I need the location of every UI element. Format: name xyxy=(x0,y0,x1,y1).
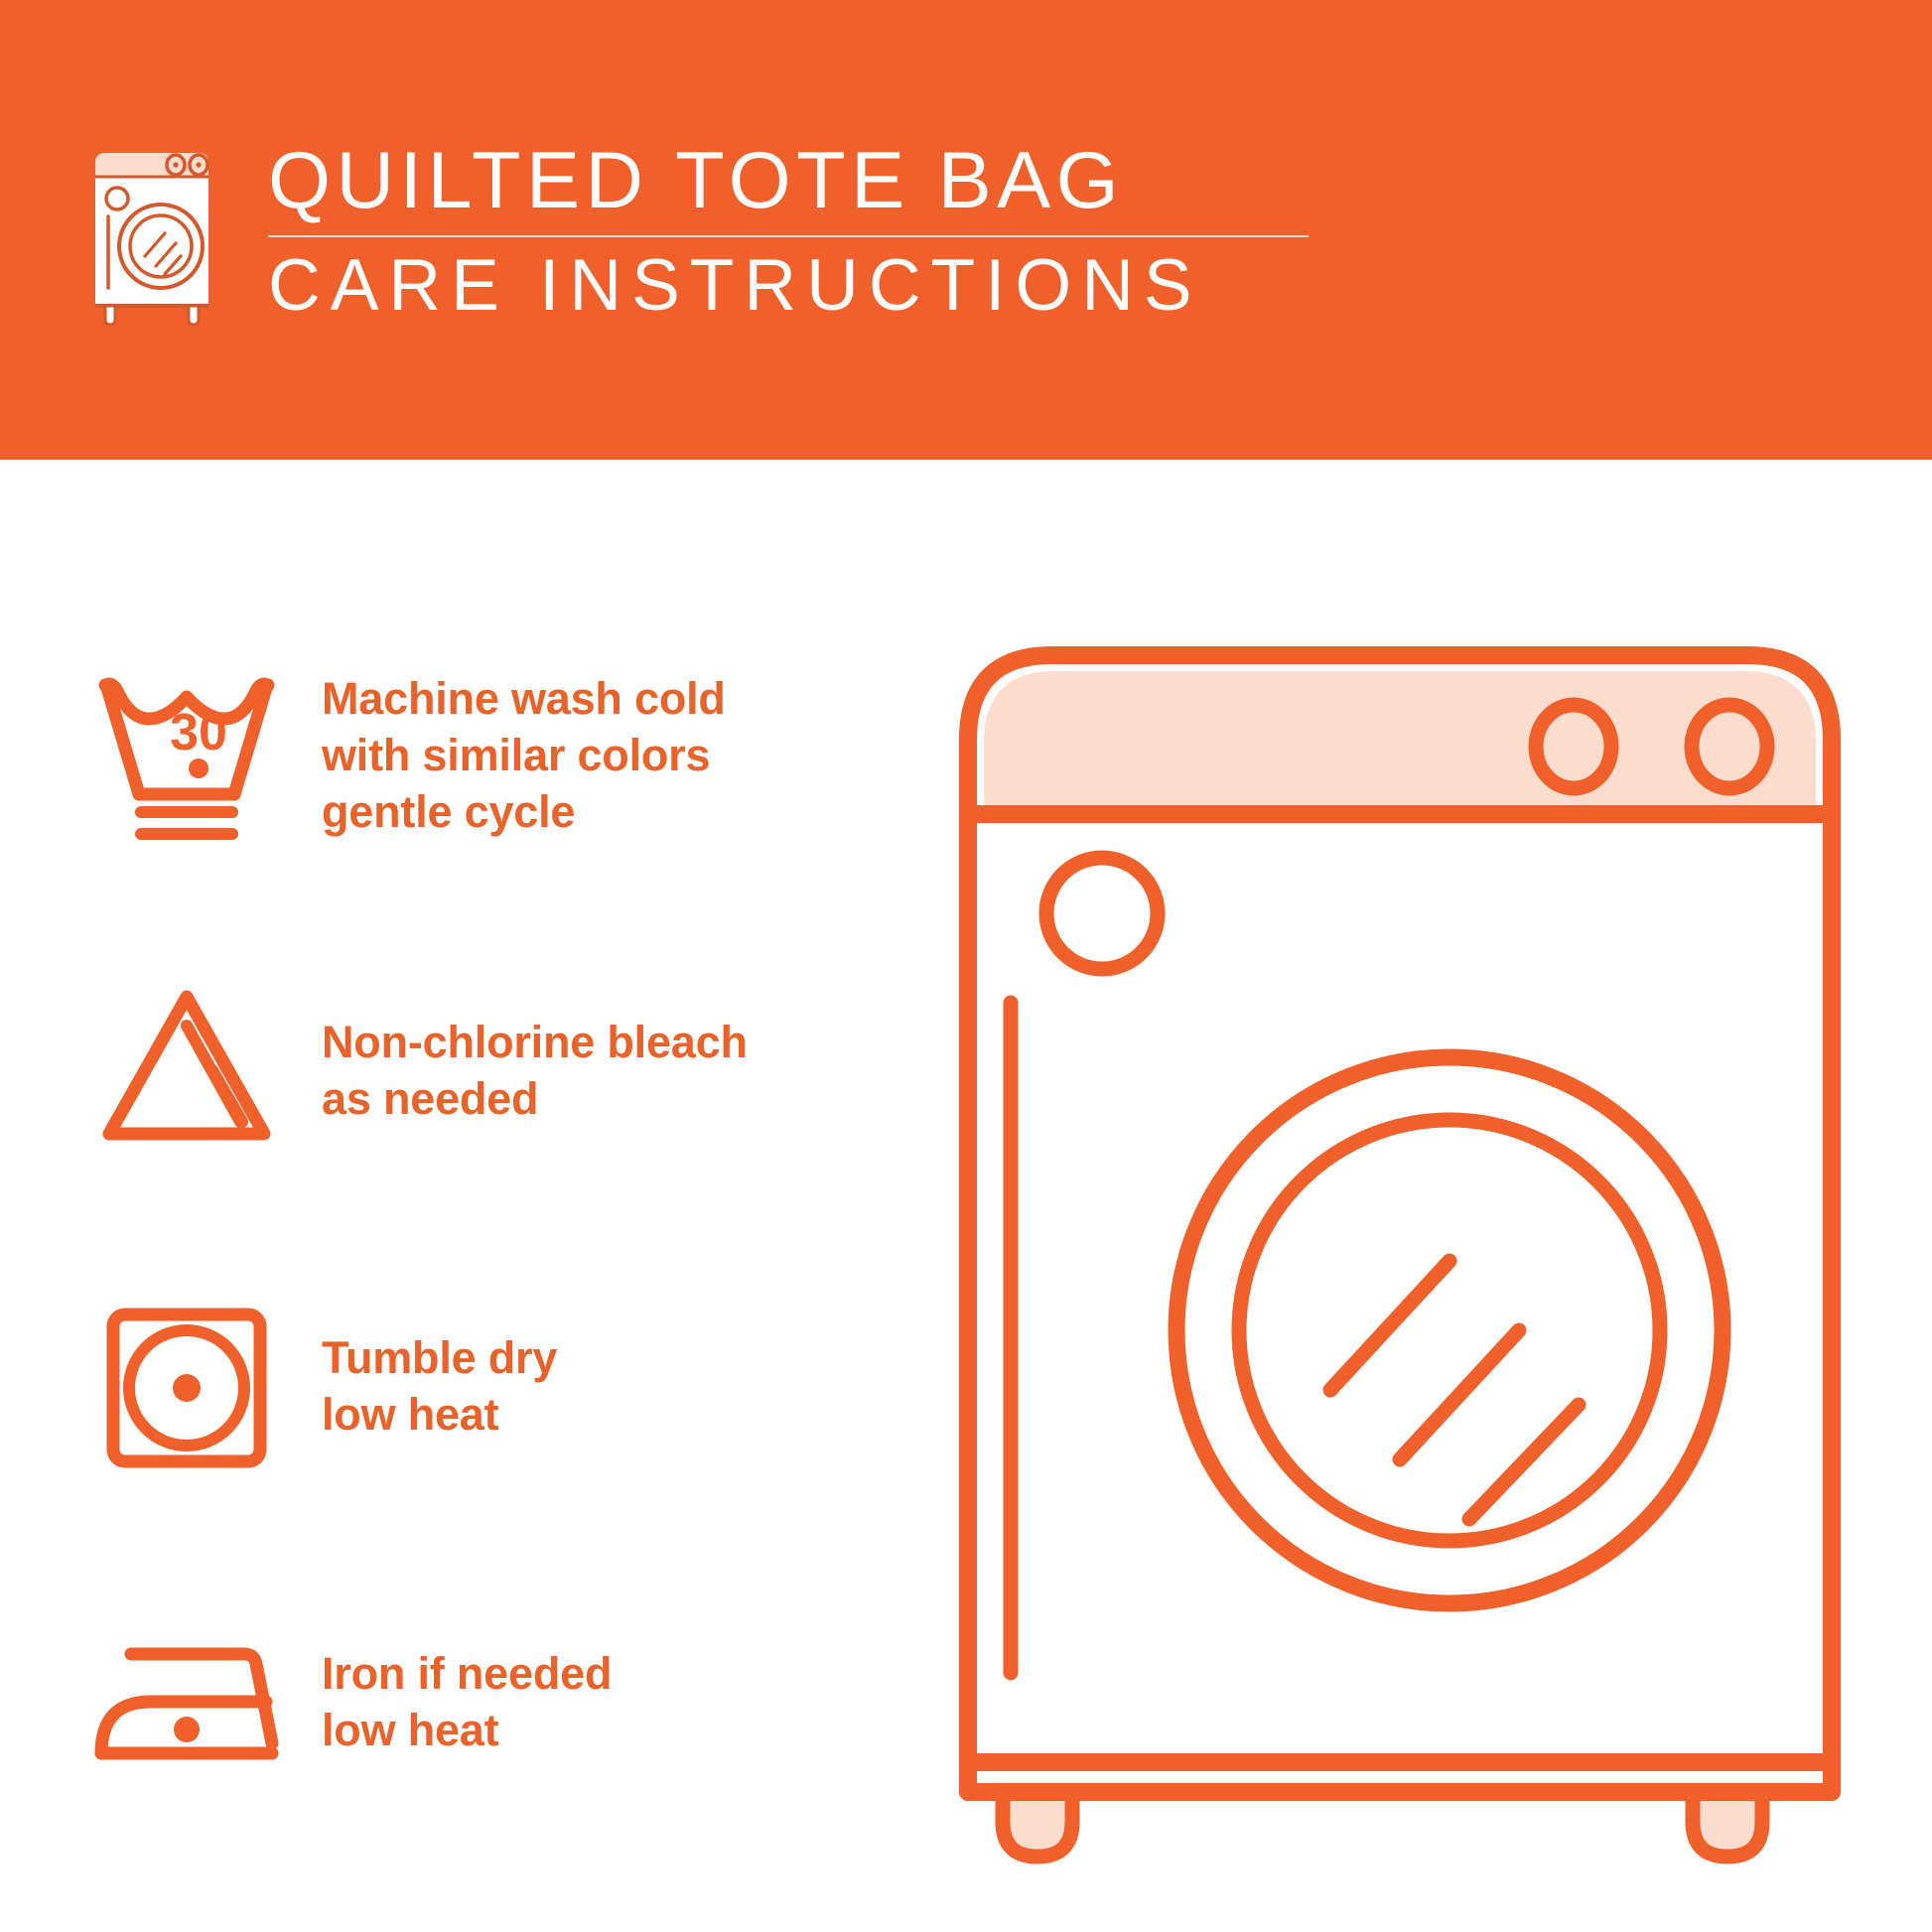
care-line: Machine wash cold xyxy=(322,670,921,727)
wash-temperature-label: 30 xyxy=(170,704,227,761)
care-text-tumble-dry: Tumble dry low heat xyxy=(286,1329,921,1443)
care-line: low heat xyxy=(322,1386,921,1443)
header-title-group: QUILTED TOTE BAG CARE INSTRUCTIONS xyxy=(264,137,1309,326)
care-text-machine-wash: Machine wash cold with similar colors ge… xyxy=(286,670,921,840)
header-content: QUILTED TOTE BAG CARE INSTRUCTIONS xyxy=(77,127,1309,336)
care-line: with similar colors xyxy=(322,727,921,783)
care-line: gentle cycle xyxy=(322,783,921,840)
care-line: Tumble dry xyxy=(322,1329,921,1386)
page-title: QUILTED TOTE BAG xyxy=(268,137,1309,224)
care-instruction-list: 30 Machine wash cold with similar colors… xyxy=(87,655,921,1801)
care-text-iron: Iron if needed low heat xyxy=(286,1645,921,1758)
page-subtitle: CARE INSTRUCTIONS xyxy=(268,246,1309,326)
washing-machine-illustration xyxy=(953,625,1847,1886)
title-divider xyxy=(268,235,1309,237)
care-row-tumble-dry: Tumble dry low heat xyxy=(87,1287,921,1485)
knob-right xyxy=(1692,705,1767,788)
care-line: Non-chlorine bleach xyxy=(322,1014,921,1070)
care-row-bleach: Non-chlorine bleach as needed xyxy=(87,971,921,1170)
care-row-iron: Iron if needed low heat xyxy=(87,1602,921,1801)
care-row-machine-wash: 30 Machine wash cold with similar colors… xyxy=(87,655,921,854)
knob-left xyxy=(1536,705,1611,788)
bleach-triangle-non-chlorine-icon xyxy=(87,971,286,1170)
tumble-dry-low-heat-icon xyxy=(87,1287,286,1485)
care-line: low heat xyxy=(322,1702,921,1758)
care-line: as needed xyxy=(322,1070,921,1127)
iron-low-heat-icon xyxy=(87,1602,286,1801)
washing-machine-icon xyxy=(77,139,226,328)
care-text-bleach: Non-chlorine bleach as needed xyxy=(286,1014,921,1127)
wash-basin-30-gentle-icon: 30 xyxy=(87,655,286,854)
care-line: Iron if needed xyxy=(322,1645,921,1702)
header-banner: QUILTED TOTE BAG CARE INSTRUCTIONS xyxy=(0,0,1932,460)
